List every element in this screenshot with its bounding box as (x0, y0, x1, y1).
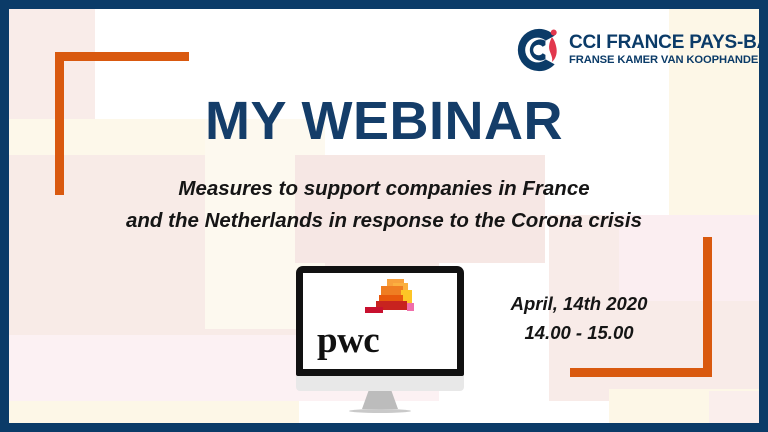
subtitle-line-1: Measures to support companies in France (9, 173, 759, 205)
event-date: April, 14th 2020 (469, 290, 689, 319)
pwc-logo-mark (365, 279, 431, 319)
bracket-arm-horizontal (55, 52, 189, 61)
subtitle-line-2: and the Netherlands in response to the C… (9, 205, 759, 237)
monitor-stand-base (349, 409, 411, 413)
cci-logo-wordmark: CCI FRANCE PAYS-BAS FRANSE KAMER VAN KOO… (569, 33, 759, 66)
patch-pink-corner-br (709, 391, 759, 423)
patch-cream-bottom (9, 401, 299, 423)
cci-logo-line2: FRANSE KAMER VAN KOOPHANDEL (569, 55, 759, 66)
cci-logo-line1: CCI FRANCE PAYS-BAS (569, 33, 759, 52)
schedule-block: April, 14th 2020 14.00 - 15.00 (469, 290, 689, 347)
cci-france-pays-bas-logo: CCI FRANCE PAYS-BAS FRANSE KAMER VAN KOO… (516, 27, 759, 73)
poster-canvas: CCI FRANCE PAYS-BAS FRANSE KAMER VAN KOO… (9, 9, 759, 423)
page-title: MY WEBINAR (9, 93, 759, 150)
monitor-screen: pwc (303, 273, 457, 369)
pwc-wordmark: pwc (317, 322, 379, 359)
bracket-arm-horizontal (570, 368, 712, 377)
bracket-arm-vertical (703, 237, 712, 377)
event-time: 14.00 - 15.00 (469, 319, 689, 348)
cci-logo-mark (516, 27, 562, 73)
subtitle: Measures to support companies in France … (9, 173, 759, 237)
pwc-block-7 (407, 303, 414, 311)
monitor-graphic: pwc (296, 266, 464, 413)
monitor-bezel: pwc (296, 266, 464, 376)
webinar-poster: CCI FRANCE PAYS-BAS FRANSE KAMER VAN KOO… (0, 0, 768, 432)
monitor-chin (296, 376, 464, 391)
monitor-stand-neck (362, 391, 398, 409)
pwc-block-8 (365, 307, 383, 313)
